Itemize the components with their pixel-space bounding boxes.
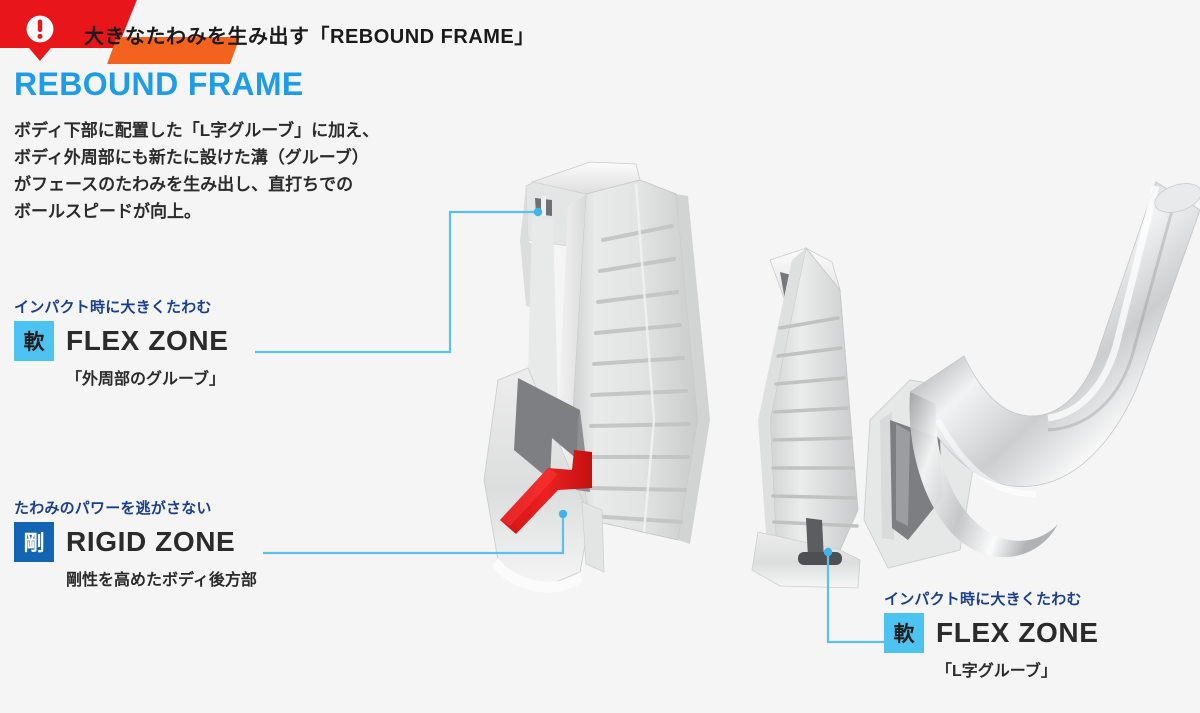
callout-flex-zone-outer: インパクト時に大きくたわむ 軟 FLEX ZONE 「外周部のグルーブ」: [14, 296, 229, 389]
callout-flex-zone-lgroove: インパクト時に大きくたわむ 軟 FLEX ZONE 「L字グルーブ」: [884, 588, 1099, 681]
callout-rigid-zone: たわみのパワーを逃がさない 剛 RIGID ZONE 剛性を高めたボディ後方部: [14, 497, 257, 590]
callout-flex-zone-lgroove-sub: 「L字グルーブ」: [936, 657, 1099, 681]
callout-flex-zone-outer-sub: 「外周部のグルーブ」: [66, 365, 229, 389]
callout-flex-zone-lgroove-row: 軟 FLEX ZONE: [884, 613, 1099, 653]
callout-flex-zone-outer-row: 軟 FLEX ZONE: [14, 321, 229, 361]
description-paragraph: ボディ下部に配置した「L字グルーブ」に加え、 ボディ外周部にも新たに設けた溝（グ…: [14, 117, 454, 225]
description-line-1: ボディ下部に配置した「L字グルーブ」に加え、: [14, 117, 454, 144]
callout-rigid-zone-lead: たわみのパワーを逃がさない: [14, 497, 257, 518]
badge-hard-icon: 剛: [14, 522, 54, 562]
description-line-2: ボディ外周部にも新たに設けた溝（グルーブ）: [14, 144, 454, 171]
callout-flex-zone-outer-lead: インパクト時に大きくたわむ: [14, 296, 229, 317]
header-row: 大きなたわみを生み出す「REBOUND FRAME」: [84, 20, 535, 54]
golf-iron-head-cutaway-diagram: [440, 120, 1200, 620]
rebound-frame-infographic: 大きなたわみを生み出す「REBOUND FRAME」 REBOUND FRAME…: [0, 0, 1200, 713]
page-title: REBOUND FRAME: [14, 66, 304, 103]
callout-rigid-zone-title: RIGID ZONE: [66, 526, 235, 558]
header-text: 大きなたわみを生み出す「REBOUND FRAME」: [84, 20, 535, 54]
badge-soft-icon-2: 軟: [884, 613, 924, 653]
callout-flex-zone-lgroove-title: FLEX ZONE: [936, 617, 1099, 649]
callout-rigid-zone-row: 剛 RIGID ZONE: [14, 522, 257, 562]
callout-flex-zone-outer-title: FLEX ZONE: [66, 325, 229, 357]
badge-soft-icon: 軟: [14, 321, 54, 361]
description-line-4: ボールスピードが向上。: [14, 198, 454, 225]
callout-flex-zone-lgroove-lead: インパクト時に大きくたわむ: [884, 588, 1099, 609]
description-line-3: がフェースのたわみを生み出し、直打ちでの: [14, 171, 454, 198]
callout-rigid-zone-sub: 剛性を高めたボディ後方部: [66, 566, 257, 590]
exclamation-pin-icon: [18, 8, 62, 62]
